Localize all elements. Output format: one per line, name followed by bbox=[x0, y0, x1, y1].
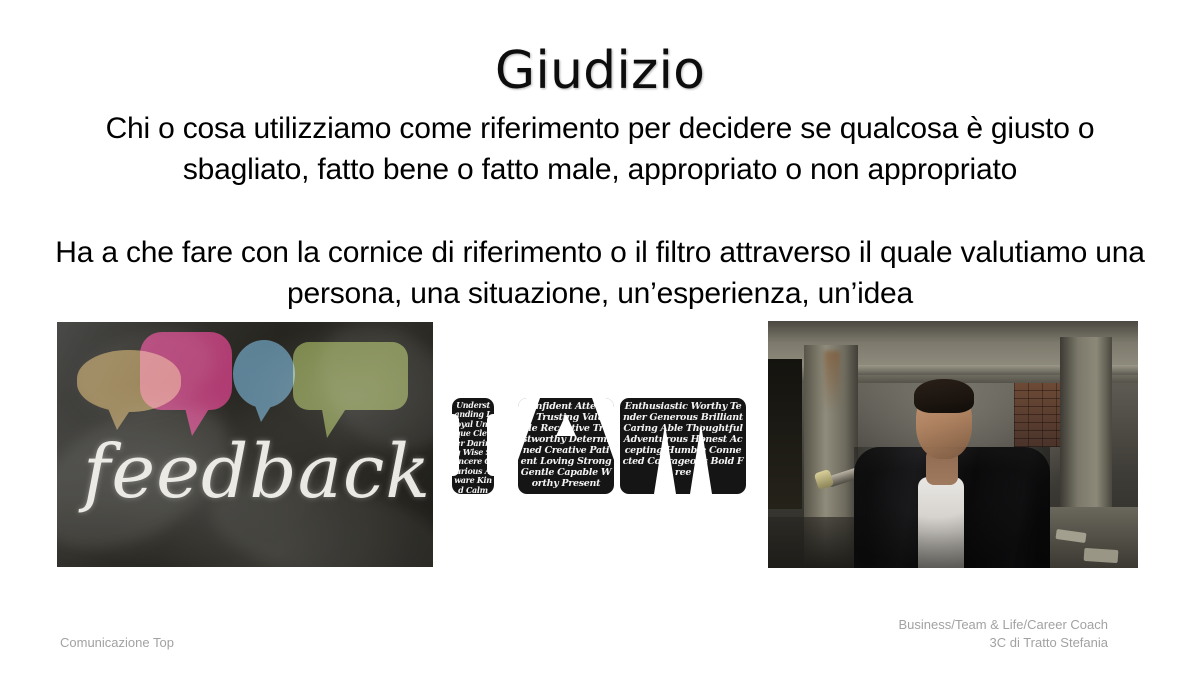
rust-stain bbox=[824, 351, 840, 411]
man-with-bat-image bbox=[768, 321, 1138, 568]
image-row: feedback Understanding Loyal Unique Clev… bbox=[0, 0, 1200, 675]
footer-right-line-2: 3C di Tratto Stefania bbox=[898, 634, 1108, 652]
speech-bubble-icon bbox=[233, 340, 295, 408]
feedback-chalk-word: feedback bbox=[83, 430, 413, 514]
body-text-block: Chi o cosa utilizziamo come riferimento … bbox=[40, 108, 1160, 314]
page-title: Giudizio bbox=[0, 42, 1200, 100]
photo-vignette bbox=[854, 447, 1050, 568]
wordart-letter-m: Enthusiastic Worthy Tender Generous Bril… bbox=[620, 398, 746, 494]
footer-right: Business/Team & Life/Career Coach 3C di … bbox=[898, 616, 1108, 652]
footer-left: Comunicazione Top bbox=[60, 634, 174, 652]
paragraph-1: Chi o cosa utilizziamo come riferimento … bbox=[40, 108, 1160, 190]
wordart-letter-a: Confident Attentive Trusting Valuable Re… bbox=[518, 398, 614, 494]
speech-bubble-icon bbox=[293, 342, 408, 410]
far-doorway bbox=[768, 359, 802, 509]
wordart-letter-i: Understanding Loyal Unique Clever Daring… bbox=[452, 398, 494, 494]
i-am-wordart-image: Understanding Loyal Unique Clever Daring… bbox=[452, 398, 746, 494]
footer-right-line-1: Business/Team & Life/Career Coach bbox=[898, 616, 1108, 634]
speech-bubble-icon bbox=[140, 332, 232, 410]
hair bbox=[914, 379, 974, 413]
feedback-chalkboard-image: feedback bbox=[57, 322, 433, 567]
rubble-chunk bbox=[1084, 548, 1119, 563]
paragraph-spacer bbox=[40, 190, 1160, 232]
wordart-letter-m-words: Enthusiastic Worthy Tender Generous Bril… bbox=[620, 398, 746, 494]
paragraph-2: Ha a che fare con la cornice di riferime… bbox=[40, 232, 1160, 314]
